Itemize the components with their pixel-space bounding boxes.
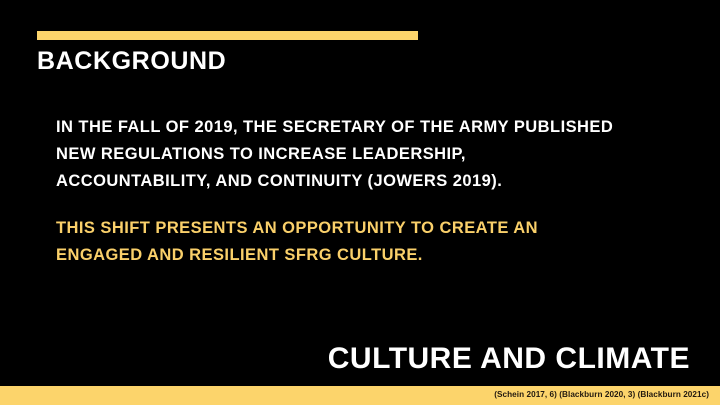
citation-text: (Schein 2017, 6) (Blackburn 2020, 3) (Bl… (494, 389, 709, 400)
paragraph-primary-line: IN THE FALL OF 2019, THE SECRETARY OF TH… (56, 114, 676, 141)
page-title: BACKGROUND (37, 46, 226, 76)
slide-canvas: BACKGROUND IN THE FALL OF 2019, THE SECR… (0, 0, 720, 405)
paragraph-highlight: THIS SHIFT PRESENTS AN OPPORTUNITY TO CR… (56, 215, 676, 269)
body-content: IN THE FALL OF 2019, THE SECRETARY OF TH… (56, 114, 676, 269)
paragraph-primary-line: NEW REGULATIONS TO INCREASE LEADERSHIP, (56, 141, 676, 168)
slide-title: CULTURE AND CLIMATE (328, 341, 690, 377)
accent-bar (37, 31, 418, 40)
paragraph-highlight-line: THIS SHIFT PRESENTS AN OPPORTUNITY TO CR… (56, 215, 676, 242)
paragraph-primary-line: ACCOUNTABILITY, AND CONTINUITY (JOWERS 2… (56, 168, 676, 195)
paragraph-primary: IN THE FALL OF 2019, THE SECRETARY OF TH… (56, 114, 676, 194)
citation-strip: (Schein 2017, 6) (Blackburn 2020, 3) (Bl… (0, 386, 720, 405)
paragraph-highlight-line: ENGAGED AND RESILIENT SFRG CULTURE. (56, 242, 676, 269)
